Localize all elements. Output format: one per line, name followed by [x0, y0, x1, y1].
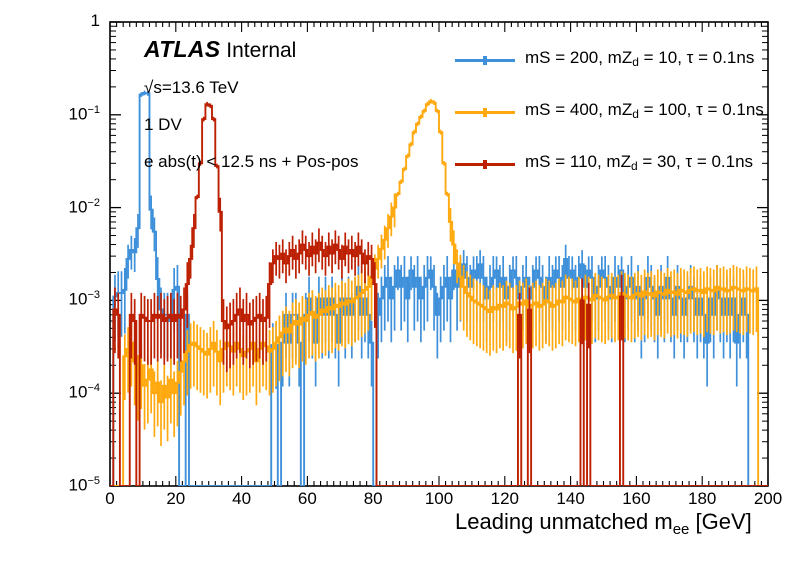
atlas-tag: ATLAS: [144, 36, 220, 62]
x-tick-label: 160: [611, 489, 661, 509]
legend: mS = 200, mZd = 10, τ = 0.1ns mS = 400, …: [455, 44, 775, 200]
x-tick-label: 200: [743, 489, 793, 509]
legend-marker-blue: [483, 56, 487, 65]
x-tick-label: 0: [85, 489, 135, 509]
y-tick-label: 10−1: [54, 104, 100, 125]
x-tick-label: 80: [348, 489, 398, 509]
plot-canvas: ATLAS Internal √s=13.6 TeV 1 DV e abs(t)…: [0, 0, 796, 572]
legend-label-orange: mS = 400, mZd = 100, τ = 0.1ns: [525, 100, 764, 121]
atlas-label-block: ATLAS Internal √s=13.6 TeV 1 DV e abs(t)…: [144, 38, 484, 189]
x-tick-label: 40: [217, 489, 267, 509]
x-axis-title: Leading unmatched mee [GeV]: [455, 509, 752, 538]
legend-label-blue: mS = 200, mZd = 10, τ = 0.1ns: [525, 48, 754, 69]
x-tick-label: 20: [151, 489, 201, 509]
atlas-tag-line: ATLAS Internal: [144, 38, 484, 61]
info-line-selection: e abs(t) < 12.5 ns + Pos-pos: [144, 152, 484, 172]
legend-entry[interactable]: mS = 110, mZd = 30, τ = 0.1ns: [455, 148, 775, 200]
y-tick-label: 10−3: [54, 289, 100, 310]
x-tick-label: 180: [677, 489, 727, 509]
legend-entry[interactable]: mS = 200, mZd = 10, τ = 0.1ns: [455, 44, 775, 96]
y-tick-label: 1: [54, 11, 100, 31]
atlas-status: Internal: [226, 39, 296, 62]
x-tick-label: 140: [546, 489, 596, 509]
y-tick-label: 10−2: [54, 197, 100, 218]
x-tick-label: 60: [282, 489, 332, 509]
legend-marker-orange: [483, 108, 487, 117]
x-tick-label: 100: [414, 489, 464, 509]
legend-label-darkred: mS = 110, mZd = 30, τ = 0.1ns: [525, 152, 753, 173]
info-line-energy: √s=13.6 TeV: [144, 78, 484, 98]
info-line-dv: 1 DV: [144, 115, 484, 135]
legend-marker-darkred: [483, 160, 487, 169]
y-tick-label: 10−4: [54, 382, 100, 403]
x-tick-label: 120: [480, 489, 530, 509]
legend-entry[interactable]: mS = 400, mZd = 100, τ = 0.1ns: [455, 96, 775, 148]
